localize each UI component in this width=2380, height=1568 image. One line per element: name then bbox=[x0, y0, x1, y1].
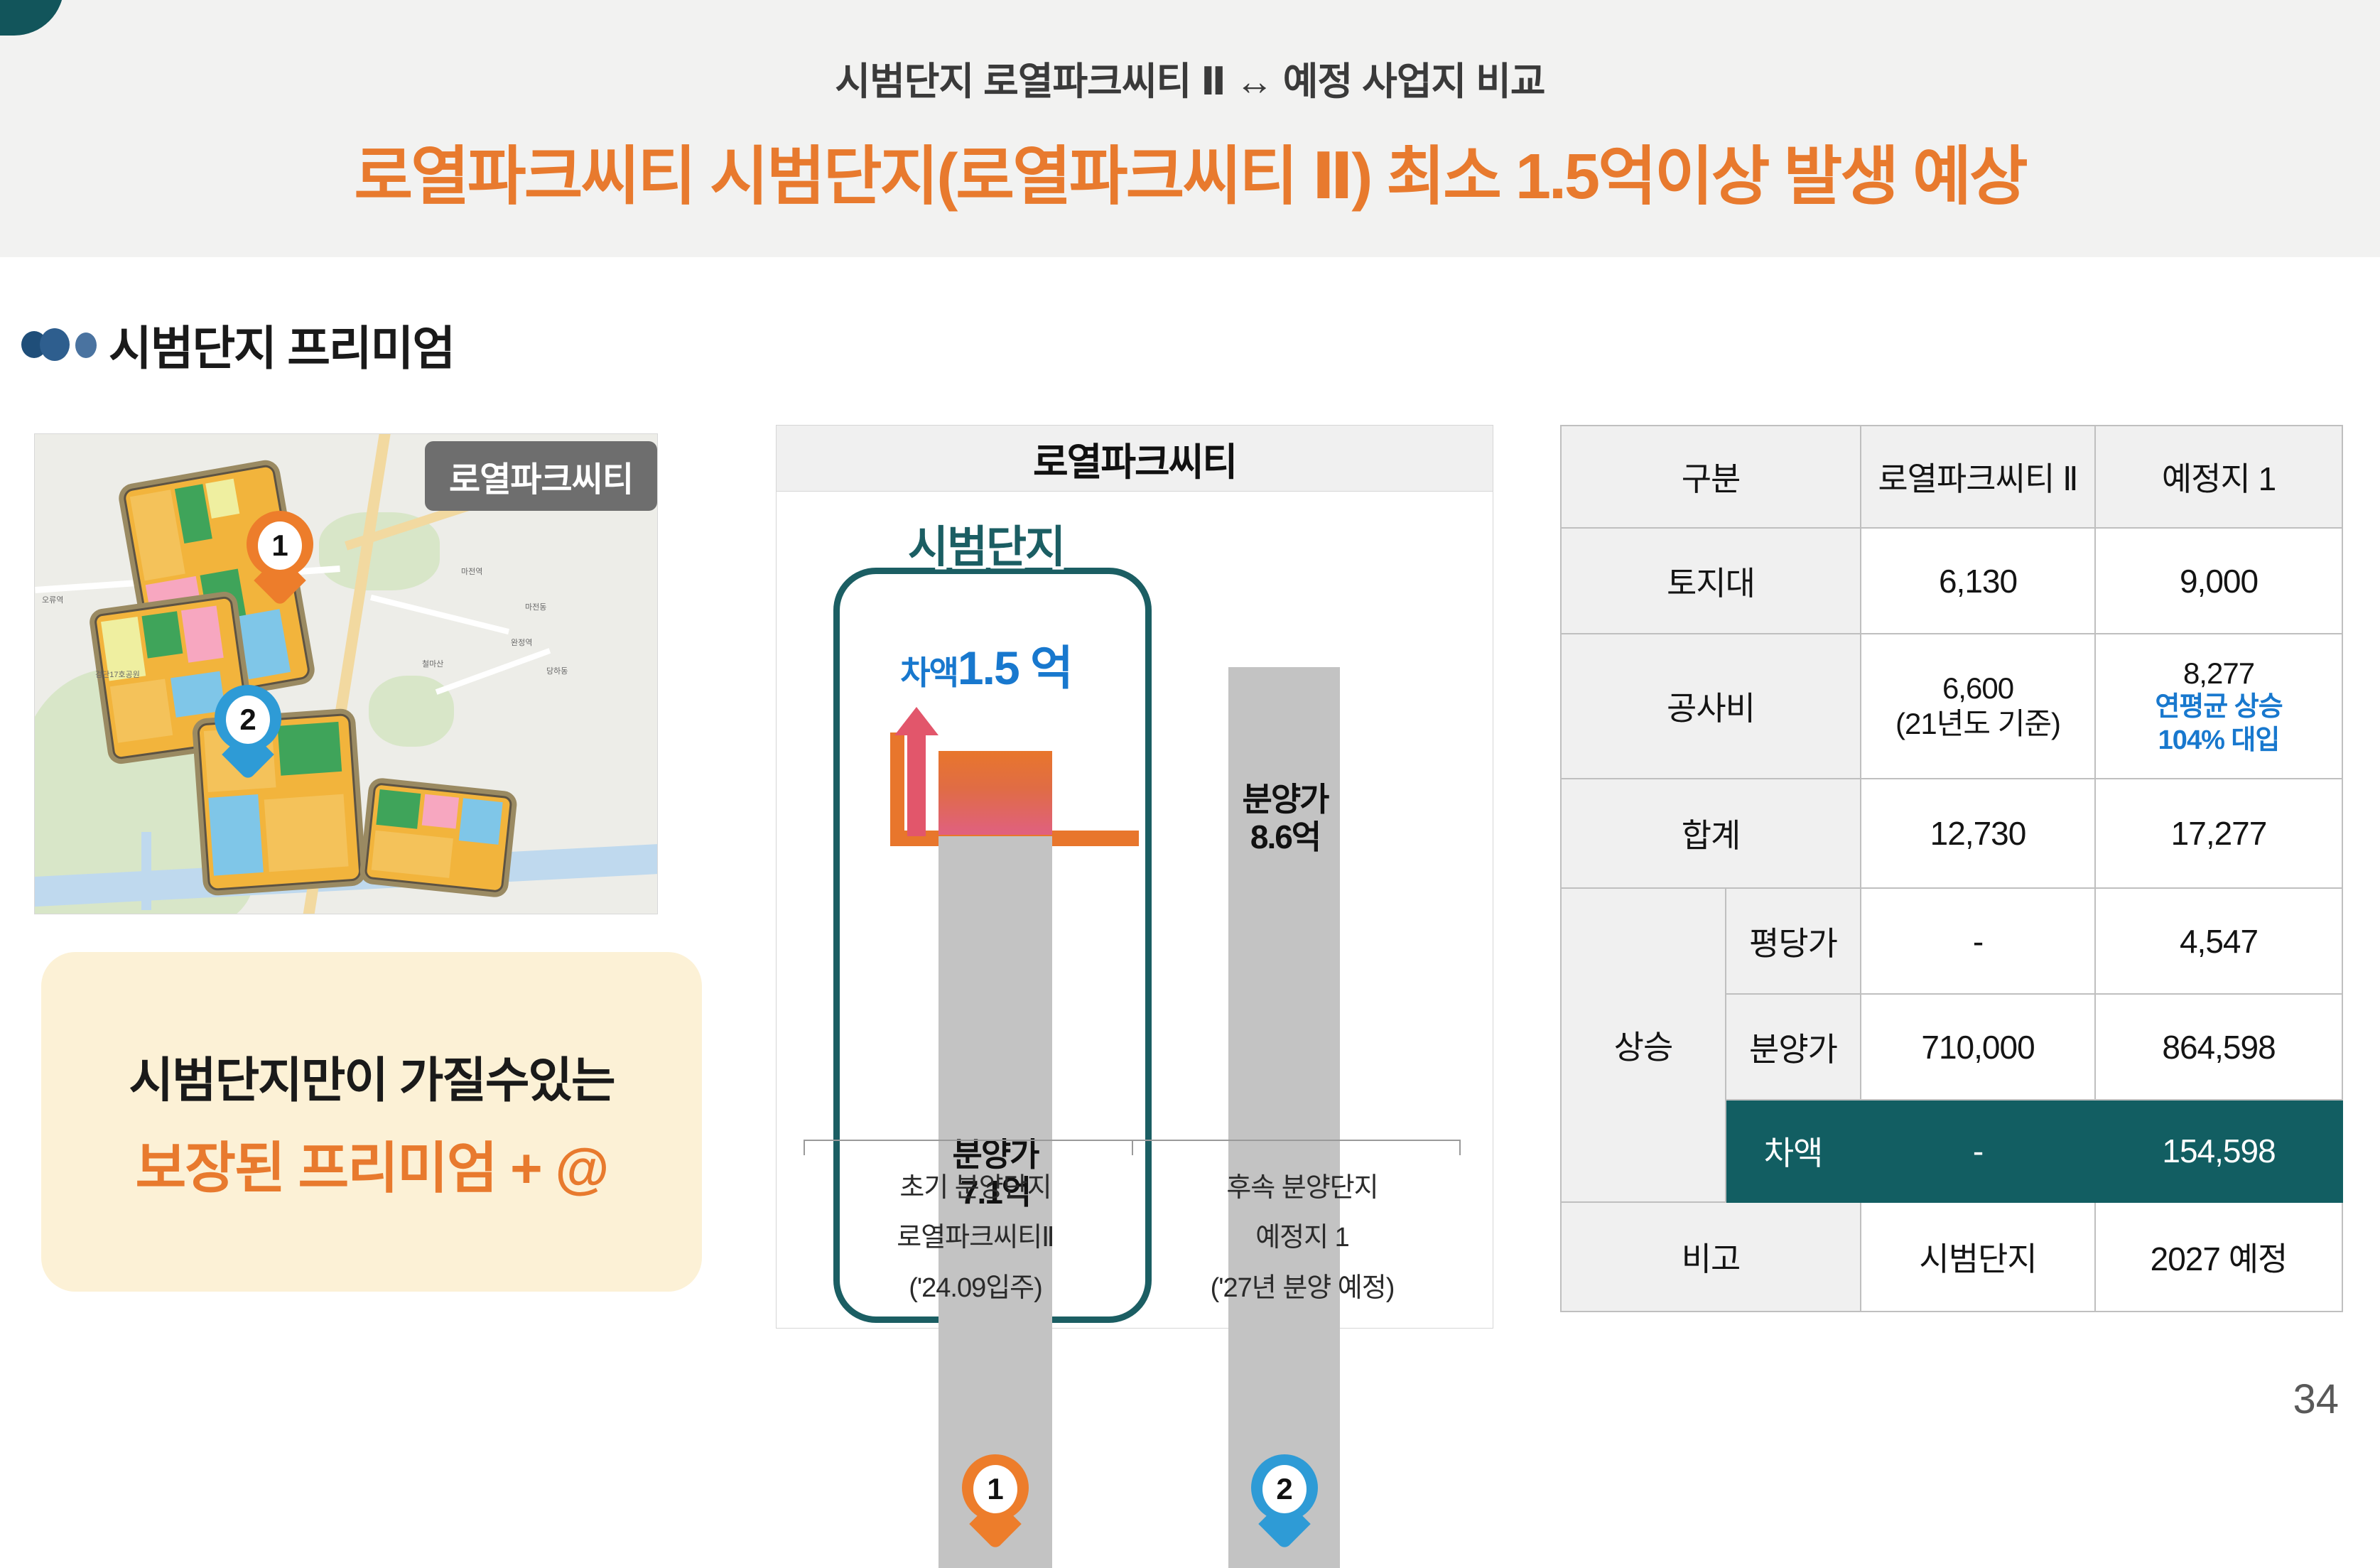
cell-construction-rpc2: 6,600 (21년도 기준) bbox=[1861, 634, 2095, 779]
table-row-per-pyeong: 상승 평당가 - 4,547 bbox=[1561, 888, 2342, 994]
cell-land-site1: 9,000 bbox=[2095, 528, 2342, 634]
bar-2-label-line2: 8.6억 bbox=[1250, 818, 1320, 855]
baseline-vertical bbox=[890, 732, 904, 839]
x1-line2: 로열파크씨티Ⅱ bbox=[897, 1223, 1054, 1253]
title-banner: 시범단지 로열파크씨티 Ⅱ ↔ 예정 사업지 비교 로열파크씨티 시범단지(로열… bbox=[0, 0, 2380, 257]
corner-decoration bbox=[0, 0, 64, 36]
cell-sale-price-rpc2: 710,000 bbox=[1861, 994, 2095, 1100]
x1-line3: ('24.09입주) bbox=[909, 1273, 1042, 1303]
map-place-label: 당하동 bbox=[546, 665, 568, 676]
comparison-table: 구분 로열파크씨티 Ⅱ 예정지 1 토지대 6,130 9,000 공사비 6,… bbox=[1560, 425, 2343, 1312]
cell-difference-site1: 154,598 bbox=[2095, 1100, 2342, 1202]
highlight-label: 시범단지 bbox=[844, 511, 1128, 575]
table-header-row: 구분 로열파크씨티 Ⅱ 예정지 1 bbox=[1561, 426, 2342, 528]
row-label-land: 토지대 bbox=[1561, 528, 1861, 634]
x2-line2: 예정지 1 bbox=[1255, 1223, 1349, 1253]
row-label-remarks: 비고 bbox=[1561, 1202, 1861, 1312]
map-place-label: 마전동 bbox=[525, 601, 546, 612]
comparison-table-wrapper: 구분 로열파크씨티 Ⅱ 예정지 1 토지대 6,130 9,000 공사비 6,… bbox=[1560, 425, 2342, 1312]
callout-line-1: 시범단지만이 가질수있는 bbox=[129, 1041, 614, 1111]
construction-rpc2-note: (21년도 기준) bbox=[1862, 706, 2094, 742]
x2-line1: 후속 분양단지 bbox=[1226, 1173, 1378, 1203]
page-number: 34 bbox=[2293, 1375, 2339, 1423]
table-header-rpc2: 로열파크씨티 Ⅱ bbox=[1861, 426, 2095, 528]
cell-total-site1: 17,277 bbox=[2095, 779, 2342, 888]
table-row-remarks: 비고 시범단지 2027 예정 bbox=[1561, 1202, 2342, 1312]
cell-per-pyeong-site1: 4,547 bbox=[2095, 888, 2342, 994]
axis-tick bbox=[1132, 1140, 1133, 1155]
row-label-construction: 공사비 bbox=[1561, 634, 1861, 779]
cell-difference-rpc2: - bbox=[1861, 1100, 2095, 1202]
row-label-total: 합계 bbox=[1561, 779, 1861, 888]
table-header-site1: 예정지 1 bbox=[2095, 426, 2342, 528]
row-label-per-pyeong: 평당가 bbox=[1726, 888, 1861, 994]
table-row-land: 토지대 6,130 9,000 bbox=[1561, 528, 2342, 634]
cell-land-rpc2: 6,130 bbox=[1861, 528, 2095, 634]
x-axis-label-1: 초기 분양단지 로열파크씨티Ⅱ ('24.09입주) bbox=[819, 1163, 1132, 1313]
map-place-label: 철마산 bbox=[422, 658, 443, 669]
map-title-badge: 로열파크씨티 bbox=[425, 441, 657, 511]
increase-arrow-icon bbox=[907, 732, 926, 836]
x1-line1: 초기 분양단지 bbox=[899, 1173, 1051, 1203]
section-title-label: 시범단지 프리미엄 bbox=[109, 310, 454, 379]
table-row-construction: 공사비 6,600 (21년도 기준) 8,277 연평균 상승 104% 대입 bbox=[1561, 634, 2342, 779]
bar-2-label-line1: 분양가 bbox=[1243, 781, 1329, 818]
cell-construction-site1: 8,277 연평균 상승 104% 대입 bbox=[2095, 634, 2342, 779]
difference-gradient-block bbox=[939, 751, 1052, 835]
bullet-dots-icon bbox=[21, 327, 96, 362]
cell-per-pyeong-rpc2: - bbox=[1861, 888, 2095, 994]
row-label-difference: 차액 bbox=[1726, 1100, 1861, 1202]
slide-subtitle: 시범단지 로열파크씨티 Ⅱ ↔ 예정 사업지 비교 bbox=[0, 50, 2380, 106]
chart-pin-2-label: 2 bbox=[1262, 1465, 1307, 1513]
construction-site1-note1: 연평균 상승 bbox=[2097, 691, 2341, 723]
premium-callout-box: 시범단지만이 가질수있는 보장된 프리미엄 + @ bbox=[41, 952, 702, 1292]
map-place-label: 마전역 bbox=[461, 566, 482, 577]
cell-remarks-site1: 2027 예정 bbox=[2095, 1202, 2342, 1312]
axis-tick bbox=[1459, 1140, 1461, 1155]
construction-site1-note2: 104% 대입 bbox=[2097, 724, 2341, 757]
construction-site1-main: 8,277 bbox=[2097, 656, 2341, 691]
construction-rpc2-main: 6,600 bbox=[1862, 671, 2094, 706]
x-axis-label-2: 후속 분양단지 예정지 1 ('27년 분양 예정) bbox=[1146, 1163, 1459, 1313]
map-pin-2-label: 2 bbox=[226, 696, 270, 744]
difference-value: 1.5 억 bbox=[958, 642, 1072, 694]
chart-pin-1-label: 1 bbox=[973, 1465, 1017, 1513]
difference-prefix: 차액 bbox=[900, 654, 958, 691]
cell-sale-price-site1: 864,598 bbox=[2095, 994, 2342, 1100]
table-header-category: 구분 bbox=[1561, 426, 1861, 528]
map-place-label: 완정역 bbox=[511, 637, 532, 648]
callout-line-2: 보장된 프리미엄 + @ bbox=[136, 1124, 608, 1204]
axis-tick bbox=[804, 1140, 805, 1155]
row-group-label-rise: 상승 bbox=[1561, 888, 1726, 1202]
price-comparison-chart: 로열파크씨티 시범단지 차액1.5 억 분양가 7.1억 분양가 8.6억 1 … bbox=[776, 425, 1493, 1329]
difference-annotation: 차액1.5 억 bbox=[837, 630, 1135, 698]
section-heading: 시범단지 프리미엄 bbox=[21, 313, 454, 377]
map-place-label: 오류역 bbox=[42, 594, 63, 605]
map-stream bbox=[141, 832, 151, 910]
map-site-block bbox=[197, 713, 362, 891]
cell-remarks-rpc2: 시범단지 bbox=[1861, 1202, 2095, 1312]
chart-header: 로열파크씨티 bbox=[777, 426, 1493, 492]
map-pin-1-label: 1 bbox=[258, 521, 302, 570]
bar-2-value-label: 분양가 8.6억 bbox=[1186, 781, 1385, 857]
map-place-label: 검단17호공원 bbox=[95, 669, 140, 680]
site-location-map[interactable]: 마전역 마전동 당하동 완정역 오류역 철마산 검단17호공원 1 2 로열파크… bbox=[34, 433, 658, 914]
cell-total-rpc2: 12,730 bbox=[1861, 779, 2095, 888]
chart-title: 로열파크씨티 bbox=[1033, 431, 1236, 487]
table-row-total: 합계 12,730 17,277 bbox=[1561, 779, 2342, 888]
slide-main-title: 로열파크씨티 시범단지(로열파크씨티 Ⅱ) 최소 1.5억이상 발생 예상 bbox=[0, 124, 2380, 217]
x2-line3: ('27년 분양 예정) bbox=[1211, 1273, 1395, 1303]
row-label-sale-price: 분양가 bbox=[1726, 994, 1861, 1100]
map-site-block bbox=[364, 782, 512, 893]
